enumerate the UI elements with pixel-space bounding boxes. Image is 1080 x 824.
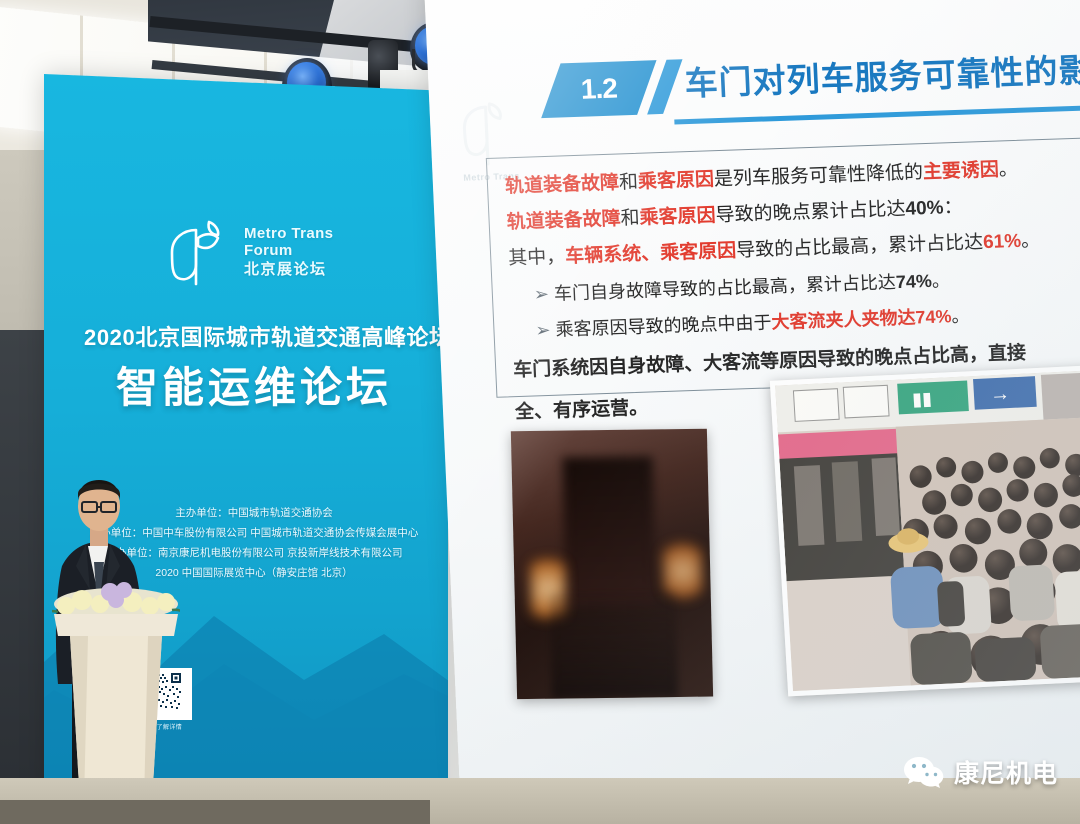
- text-segment: 车辆系统、乘客原因: [565, 241, 737, 268]
- text-segment: 和: [620, 208, 640, 230]
- logo-cn-line: 北京展论坛: [244, 262, 333, 279]
- logo-en-line1: Metro Trans: [244, 226, 333, 243]
- text-segment: 其中，: [508, 246, 566, 269]
- text-segment: ：: [943, 197, 963, 219]
- conference-photo-scene: Metro Trans Forum 北京展论坛 2020北京国际城市轨道交通高峰…: [0, 0, 1080, 824]
- bullet-marker: ➢: [533, 284, 554, 305]
- text-segment: 大客流夹人夹物达74%: [771, 306, 952, 332]
- wechat-icon: [903, 755, 945, 789]
- text-segment: 和: [619, 172, 639, 194]
- text-segment: 主要诱因: [922, 160, 999, 184]
- metro-trans-leaf-logo-icon: [162, 218, 236, 292]
- stage-floor-shadow: [0, 800, 430, 824]
- crowded-platform-photo: → ▮▮: [770, 365, 1080, 697]
- wechat-watermark: 康尼机电: [903, 754, 1058, 790]
- text-segment: 61%: [983, 231, 1022, 253]
- text-segment: 。: [998, 159, 1018, 181]
- text-segment: 74%: [895, 271, 932, 292]
- bullet-marker: ➢: [535, 320, 556, 341]
- section-number-badge: 1.2: [541, 60, 656, 118]
- text-segment: 乘客原因: [638, 169, 715, 193]
- text-segment: 。: [951, 306, 970, 327]
- slide-body-line-7: 全、有序运营。: [514, 393, 648, 424]
- text-segment: 40%: [905, 197, 944, 219]
- slide-title-underline: [674, 103, 1080, 125]
- presentation-slide: Metro Trans 1.2 车门对列车服务可靠性的影响 轨道装备故障和乘客原…: [424, 0, 1080, 819]
- banner-title-line2: 智能运维论坛: [64, 354, 444, 415]
- text-segment: 。: [931, 270, 950, 291]
- wechat-label: 康尼机电: [954, 754, 1058, 790]
- text-segment: 乘客原因: [639, 205, 716, 229]
- section-number-label: 1.2: [580, 73, 617, 106]
- text-segment: 轨道装备故障: [505, 172, 620, 197]
- text-segment: 全、有序运营。: [515, 398, 649, 424]
- train-door-dark-photo: [511, 429, 713, 699]
- slide-title: 车门对列车服务可靠性的影响: [684, 42, 1080, 105]
- text-segment: 轨道装备故障: [506, 208, 621, 233]
- banner-title-line1: 2020北京国际城市轨道交通高峰论坛: [84, 320, 424, 352]
- forum-logo-text: Metro Trans Forum 北京展论坛: [244, 226, 333, 278]
- text-segment: 。: [1021, 230, 1041, 252]
- logo-en-line2: Forum: [244, 243, 333, 260]
